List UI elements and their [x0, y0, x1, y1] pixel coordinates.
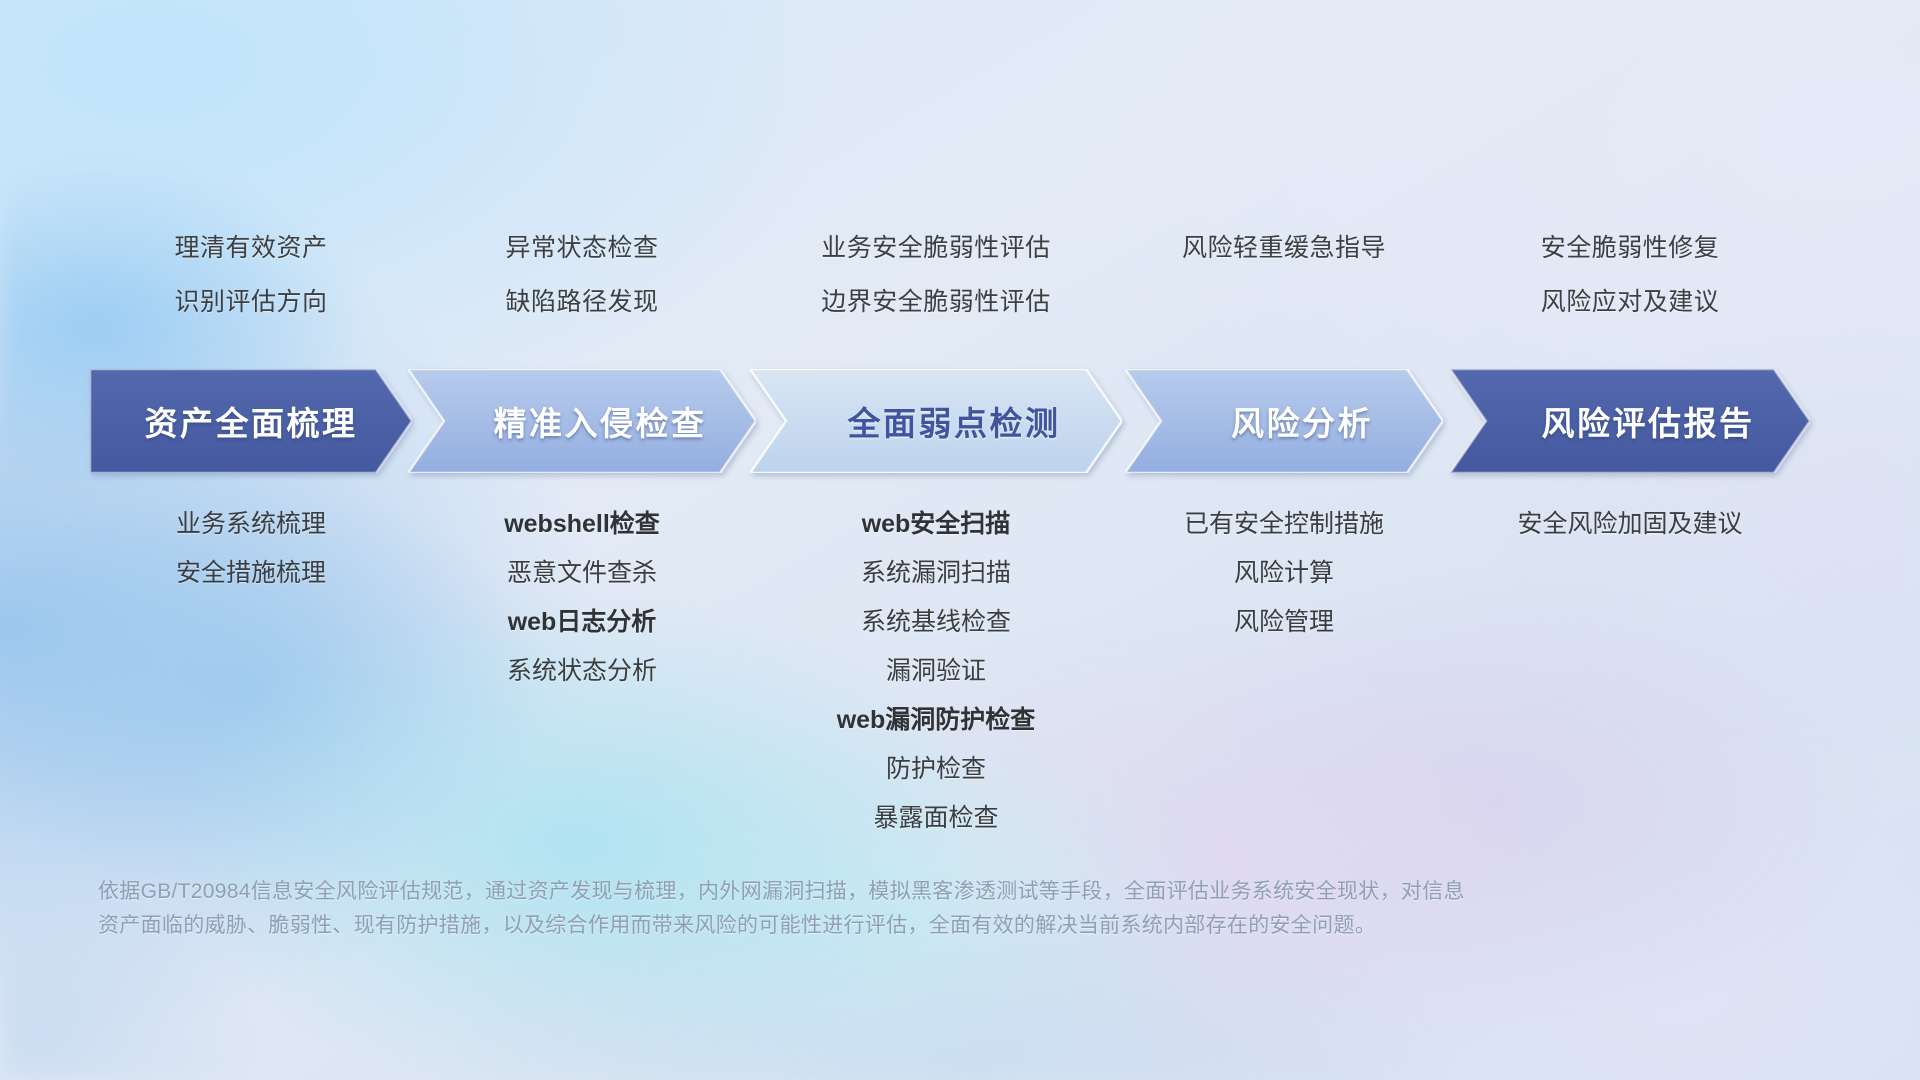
- stage-risk-report-top-labels: 安全脆弱性修复风险应对及建议: [1541, 228, 1720, 318]
- stage-intrusion-check-top-labels: 异常状态检查缺陷路径发现: [505, 228, 658, 318]
- stage-risk-analysis-item-3[interactable]: 风险管理: [1234, 598, 1334, 647]
- stage-risk-analysis-items: 已有安全控制措施风险计算风险管理: [1184, 500, 1384, 647]
- stage-asset-inventory-top-label-1: 理清有效资产: [174, 228, 327, 264]
- stage-risk-analysis-top-label-1: 风险轻重缓急指导: [1182, 228, 1386, 264]
- footnote: 依据GB/T20984信息安全风险评估规范，通过资产发现与梳理，内外网漏洞扫描，…: [98, 875, 1658, 943]
- stage-asset-inventory-arrow[interactable]: 资产全面梳理: [90, 369, 412, 473]
- stage-risk-report-item-1[interactable]: 安全风险加固及建议: [1517, 500, 1742, 549]
- stage-risk-analysis-title: 风险分析: [1125, 397, 1443, 445]
- stage-intrusion-check-item-2[interactable]: 恶意文件查杀: [507, 549, 657, 598]
- stage-risk-analysis-item-1[interactable]: 已有安全控制措施: [1184, 500, 1384, 549]
- stage-arrow-band: 资产全面梳理精准入侵检查全面弱点检测风险分析风险评估报告: [90, 369, 1835, 473]
- stage-asset-inventory-top-labels: 理清有效资产识别评估方向: [174, 228, 327, 318]
- stage-weakness-detection-item-5[interactable]: web漏洞防护检查: [837, 696, 1036, 745]
- stage-asset-inventory-items: 业务系统梳理安全措施梳理: [176, 500, 326, 598]
- stage-risk-report-items: 安全风险加固及建议: [1517, 500, 1742, 549]
- stage-intrusion-check-item-3[interactable]: web日志分析: [508, 598, 657, 647]
- stage-weakness-detection-top-labels: 业务安全脆弱性评估边界安全脆弱性评估: [821, 228, 1051, 318]
- footnote-line-2: 资产面临的威胁、脆弱性、现有防护措施，以及综合作用而带来风险的可能性进行评估，全…: [98, 909, 1658, 943]
- stage-risk-report-title: 风险评估报告: [1450, 397, 1810, 445]
- stage-risk-analysis-top-labels: 风险轻重缓急指导: [1182, 228, 1386, 264]
- stage-weakness-detection-arrow[interactable]: 全面弱点检测: [750, 369, 1122, 473]
- stage-risk-report-top-label-2: 风险应对及建议: [1541, 282, 1720, 318]
- stage-asset-inventory-item-1[interactable]: 业务系统梳理: [176, 500, 326, 549]
- stage-asset-inventory-top-label-2: 识别评估方向: [174, 282, 327, 318]
- stage-risk-analysis-item-2[interactable]: 风险计算: [1234, 549, 1334, 598]
- stage-intrusion-check-items: webshell检查恶意文件查杀web日志分析系统状态分析: [504, 500, 660, 696]
- stage-intrusion-check-top-label-2: 缺陷路径发现: [505, 282, 658, 318]
- stage-weakness-detection-title: 全面弱点检测: [750, 397, 1122, 445]
- stage-asset-inventory-title: 资产全面梳理: [90, 397, 412, 445]
- stage-asset-inventory-item-2[interactable]: 安全措施梳理: [176, 549, 326, 598]
- stage-intrusion-check-arrow[interactable]: 精准入侵检查: [408, 369, 756, 473]
- stage-risk-report-arrow[interactable]: 风险评估报告: [1450, 369, 1810, 473]
- footnote-line-1: 依据GB/T20984信息安全风险评估规范，通过资产发现与梳理，内外网漏洞扫描，…: [98, 875, 1658, 909]
- stage-risk-analysis-arrow[interactable]: 风险分析: [1125, 369, 1443, 473]
- stage-weakness-detection-items: web安全扫描系统漏洞扫描系统基线检查漏洞验证web漏洞防护检查防护检查暴露面检…: [837, 500, 1036, 843]
- stage-intrusion-check-top-label-1: 异常状态检查: [505, 228, 658, 264]
- process-diagram: 理清有效资产识别评估方向异常状态检查缺陷路径发现业务安全脆弱性评估边界安全脆弱性…: [0, 0, 1920, 1080]
- stage-weakness-detection-item-2[interactable]: 系统漏洞扫描: [861, 549, 1011, 598]
- stage-risk-report-top-label-1: 安全脆弱性修复: [1541, 228, 1720, 264]
- stage-weakness-detection-item-6[interactable]: 防护检查: [886, 745, 986, 794]
- stage-weakness-detection-top-label-1: 业务安全脆弱性评估: [821, 228, 1051, 264]
- stage-weakness-detection-item-3[interactable]: 系统基线检查: [861, 598, 1011, 647]
- stage-weakness-detection-top-label-2: 边界安全脆弱性评估: [821, 282, 1051, 318]
- stage-intrusion-check-title: 精准入侵检查: [408, 397, 756, 445]
- stage-weakness-detection-item-1[interactable]: web安全扫描: [862, 500, 1011, 549]
- stage-intrusion-check-item-4[interactable]: 系统状态分析: [507, 647, 657, 696]
- stage-weakness-detection-item-7[interactable]: 暴露面检查: [873, 794, 998, 843]
- stage-weakness-detection-item-4[interactable]: 漏洞验证: [886, 647, 986, 696]
- stage-intrusion-check-item-1[interactable]: webshell检查: [504, 500, 660, 549]
